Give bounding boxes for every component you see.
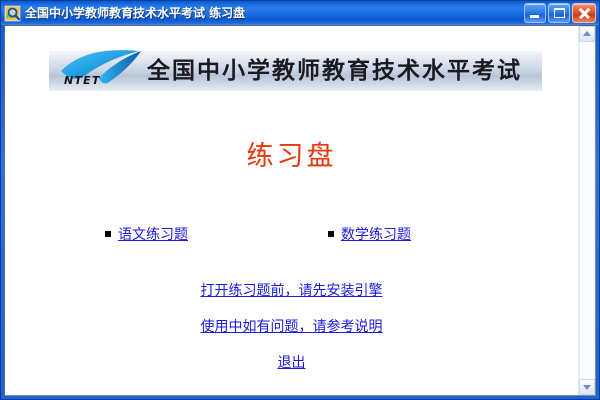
chevron-up-icon: [583, 31, 591, 36]
page-title: 练习盘: [5, 134, 578, 173]
install-engine-link[interactable]: 打开练习题前，请先安装引擎: [201, 283, 383, 299]
banner-title: 全国中小学教师教育技术水平考试: [147, 53, 522, 89]
help-instructions-link[interactable]: 使用中如有问题，请参考说明: [201, 319, 383, 335]
square-bullet-icon: [105, 231, 111, 237]
action-link-row: 使用中如有问题，请参考说明: [5, 318, 578, 336]
scroll-down-button[interactable]: [579, 379, 595, 395]
exit-link[interactable]: 退出: [278, 355, 306, 371]
ntet-logo-icon: NTET: [55, 44, 147, 90]
close-button[interactable]: [572, 3, 596, 23]
svg-text:NTET: NTET: [64, 74, 101, 87]
titlebar[interactable]: 全国中小学教师教育技术水平考试 练习盘: [1, 1, 599, 25]
application-window: 全国中小学教师教育技术水平考试 练习盘: [0, 0, 600, 400]
action-link-row: 退出: [5, 354, 578, 372]
action-link-row: 打开练习题前，请先安装引擎: [5, 282, 578, 300]
vertical-scrollbar[interactable]: [578, 26, 595, 395]
subject-link-math[interactable]: 数学练习题: [328, 224, 411, 244]
app-magnifier-icon: [4, 5, 21, 22]
square-bullet-icon: [328, 231, 334, 237]
subject-link-label[interactable]: 语文练习题: [118, 224, 188, 244]
window-controls: [524, 3, 596, 23]
subject-link-chinese[interactable]: 语文练习题: [105, 224, 188, 244]
maximize-icon: [554, 8, 565, 18]
page-content: NTET 全国中小学教师教育技术水平考试 练习盘 语文练习题 数学练习题: [5, 26, 578, 395]
chevron-down-icon: [583, 385, 591, 390]
maximize-button[interactable]: [548, 3, 570, 23]
minimize-button[interactable]: [524, 3, 546, 23]
scrollbar-track[interactable]: [579, 42, 595, 379]
minimize-icon: [530, 15, 539, 18]
subject-link-label[interactable]: 数学练习题: [341, 224, 411, 244]
header-banner: NTET 全国中小学教师教育技术水平考试: [49, 51, 542, 91]
client-area: NTET 全国中小学教师教育技术水平考试 练习盘 语文练习题 数学练习题: [4, 25, 596, 396]
action-links: 打开练习题前，请先安装引擎 使用中如有问题，请参考说明 退出: [5, 282, 578, 372]
subject-links-row: 语文练习题 数学练习题: [5, 224, 578, 246]
window-title: 全国中小学教师教育技术水平考试 练习盘: [25, 1, 245, 25]
scroll-up-button[interactable]: [579, 26, 595, 42]
